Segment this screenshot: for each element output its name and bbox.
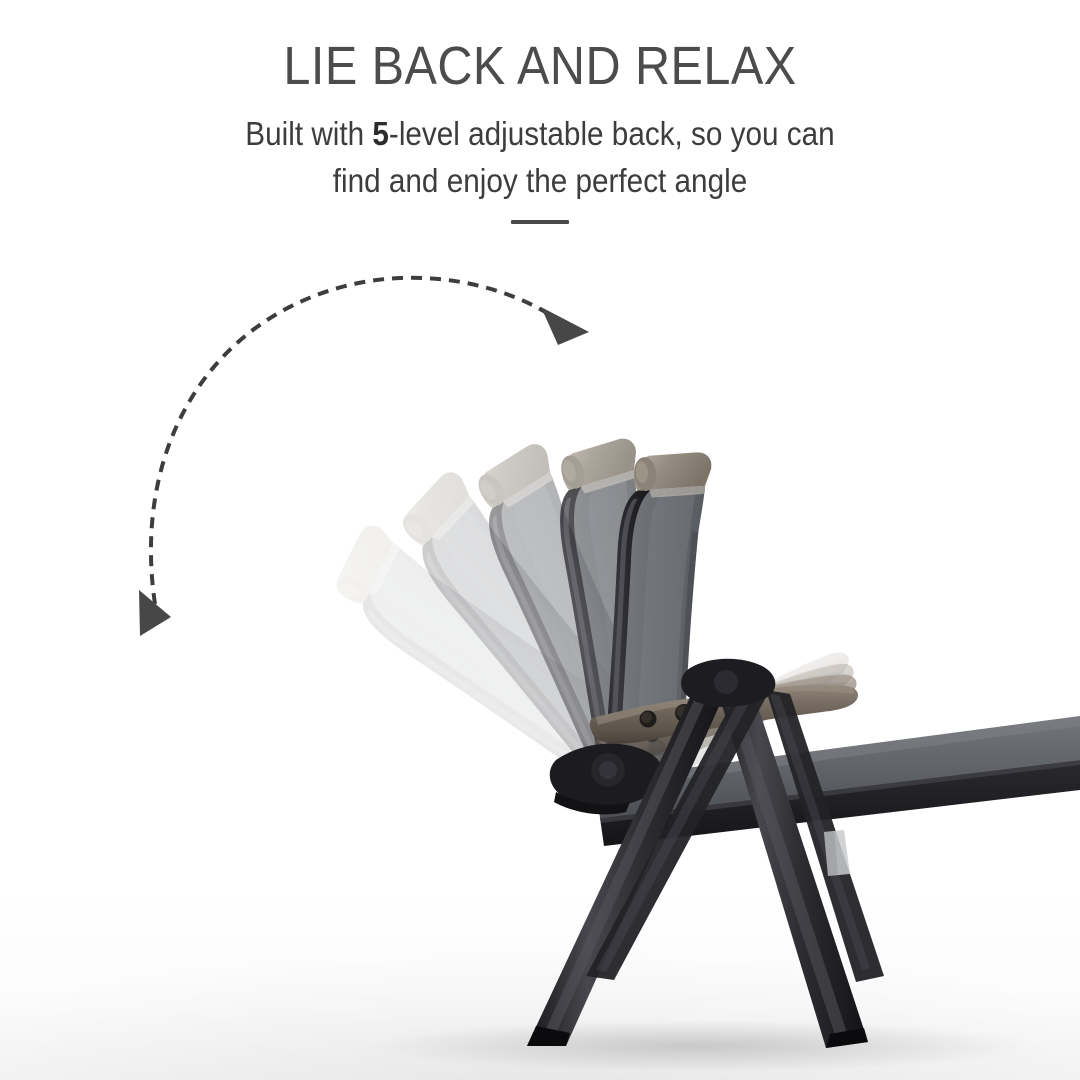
- subtitle-line-1: Built with 5-level adjustable back, so y…: [245, 115, 834, 152]
- subtitle-prefix: Built with: [245, 115, 372, 152]
- floor-shadow: [370, 1020, 1030, 1072]
- marketing-copy: LIE BACK AND RELAX Built with 5-level ad…: [0, 36, 1080, 224]
- arrow-upright-end: [541, 307, 589, 345]
- divider-wrap: [0, 220, 1080, 224]
- level-count: 5: [372, 115, 389, 152]
- subtitle-line-2: find and enjoy the perfect angle: [333, 162, 747, 199]
- subtitle: Built with 5-level adjustable back, so y…: [54, 110, 1026, 204]
- title-divider: [511, 220, 569, 224]
- subtitle-suffix: -level adjustable back, so you can: [389, 115, 835, 152]
- page-title: LIE BACK AND RELAX: [54, 36, 1026, 96]
- promo-banner: LIE BACK AND RELAX Built with 5-level ad…: [0, 0, 1080, 1080]
